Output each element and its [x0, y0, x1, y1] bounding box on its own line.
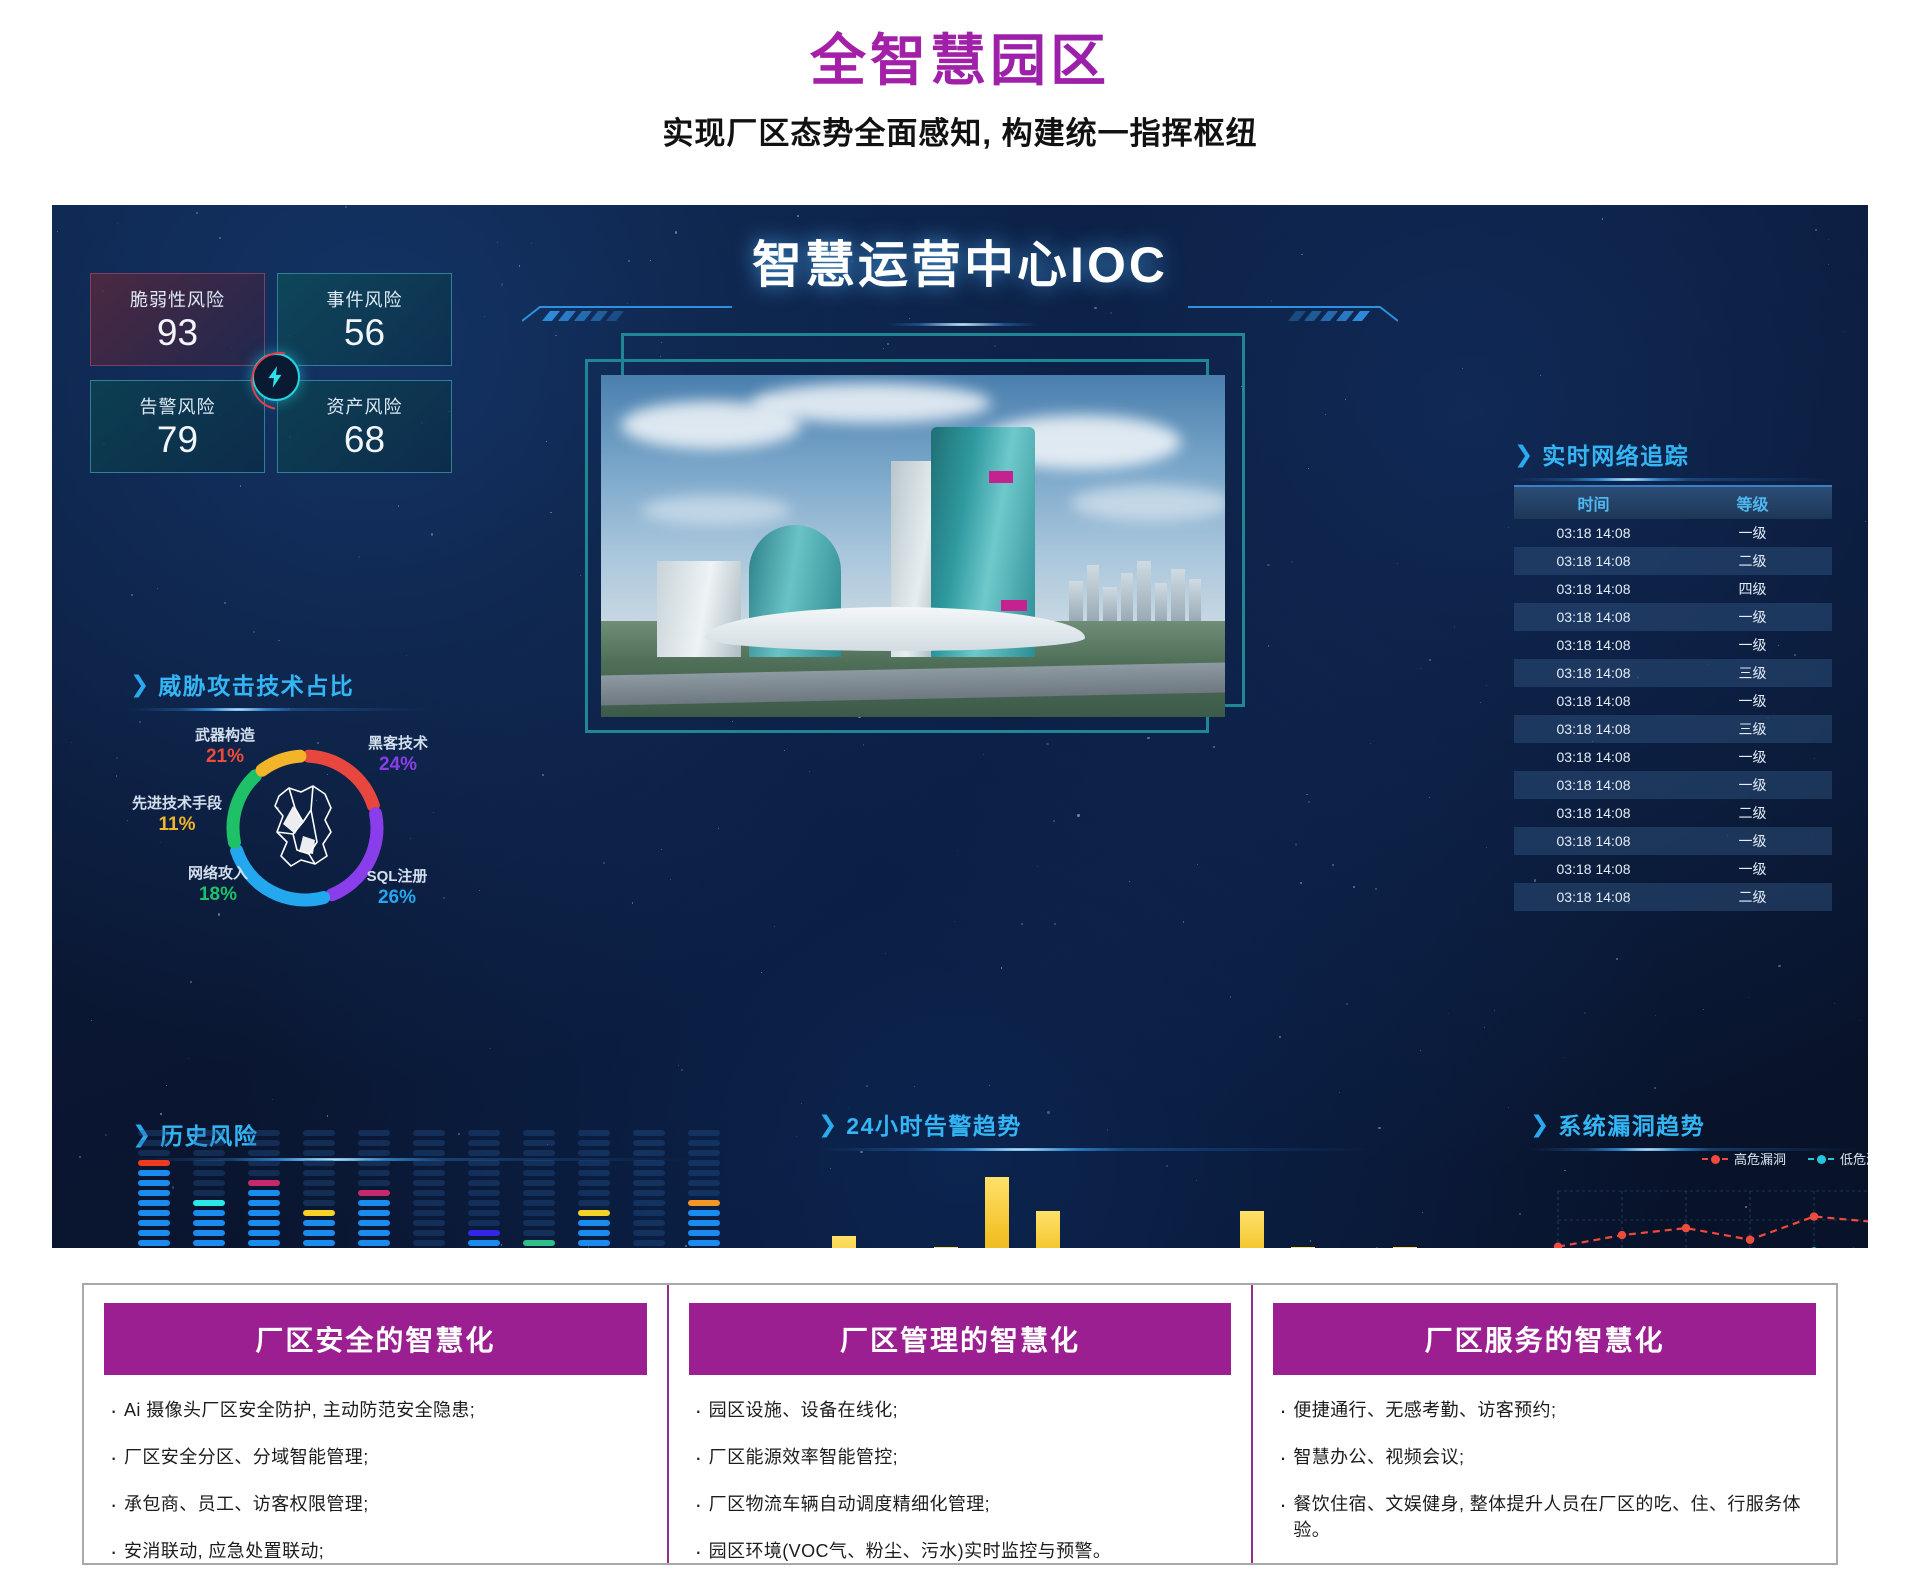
section-threat-attack: ❯ 威胁攻击技术占比 — [130, 667, 430, 711]
series-line-0 — [1558, 1217, 1868, 1247]
cell-level: 一级 — [1673, 859, 1832, 879]
alert-bar — [985, 1177, 1009, 1248]
list-item: 安消联动, 应急处置联动; — [110, 1538, 641, 1564]
card-bullet-list: 园区设施、设备在线化;厂区能源效率智能管控;厂区物流车辆自动调度精细化管理;园区… — [689, 1375, 1232, 1564]
cell-level: 三级 — [1673, 663, 1832, 683]
cell-level: 一级 — [1673, 775, 1832, 795]
table-row[interactable]: 03:18 14:08二级 — [1514, 799, 1832, 827]
donut-label-4: 先进技术手段 11% — [112, 792, 242, 836]
vulnerability-trend-chart: 高危漏洞 低危漏洞 2013年2014年2015年2016年2017年2018年 — [1530, 1157, 1868, 1248]
cell-level: 二级 — [1673, 887, 1832, 907]
section-title: 系统漏洞趋势 — [1558, 1107, 1705, 1141]
threat-donut-chart: 武器构造 21% 黑客技术 24% SQL注册 26% 网络攻入 18% 先进技… — [130, 720, 480, 935]
cell-level: 二级 — [1673, 803, 1832, 823]
column-header-level: 等级 — [1673, 491, 1832, 515]
table-header-row: 时间 等级 — [1514, 485, 1832, 519]
kpi-label: 告警风险 — [140, 393, 216, 419]
donut-label-1: 黑客技术 24% — [338, 732, 458, 776]
cell-level: 一级 — [1673, 747, 1832, 767]
title-deco-right — [1188, 303, 1398, 325]
map-highlight-region-2 — [299, 836, 315, 854]
alert-bar — [832, 1236, 856, 1248]
table-row[interactable]: 03:18 14:08一级 — [1514, 771, 1832, 799]
card-plant-service: 厂区服务的智慧化 便捷通行、无感考勤、访客预约;智慧办公、视频会议;餐饮住宿、文… — [1251, 1285, 1836, 1563]
kpi-card-incident-risk[interactable]: 事件风险 56 — [277, 273, 452, 366]
cell-time: 03:18 14:08 — [1514, 637, 1673, 653]
title-deco-left — [522, 303, 732, 325]
series-point — [1618, 1231, 1626, 1239]
section-divider — [130, 708, 430, 711]
history-bar-column — [248, 1130, 280, 1248]
card-title: 厂区管理的智慧化 — [689, 1303, 1232, 1375]
cell-level: 一级 — [1673, 607, 1832, 627]
card-bullet-list: 便捷通行、无感考勤、访客预约;智慧办公、视频会议;餐饮住宿、文娱健身, 整体提升… — [1273, 1375, 1816, 1543]
chevron-right-icon: ❯ — [130, 673, 149, 696]
cell-time: 03:18 14:08 — [1514, 749, 1673, 765]
series-point — [1810, 1212, 1818, 1220]
history-bar-column — [523, 1130, 555, 1248]
cell-level: 一级 — [1673, 691, 1832, 711]
dashboard-panel: 智慧运营中心IOC — [52, 205, 1868, 1248]
kpi-group: 脆弱性风险 93 事件风险 56 告警风险 79 资产风险 68 — [90, 273, 455, 473]
list-item: 智慧办公、视频会议; — [1279, 1444, 1810, 1470]
kpi-card-alarm-risk[interactable]: 告警风险 79 — [90, 380, 265, 473]
kpi-card-vulnerability-risk[interactable]: 脆弱性风险 93 — [90, 273, 265, 366]
section-title: 实时网络追踪 — [1542, 437, 1689, 471]
table-row[interactable]: 03:18 14:08一级 — [1514, 743, 1832, 771]
kpi-label: 事件风险 — [327, 286, 403, 312]
feature-cards: 厂区安全的智慧化 Ai 摄像头厂区安全防护, 主动防范安全隐患;厂区安全分区、分… — [82, 1283, 1838, 1565]
list-item: 园区环境(VOC气、粉尘、污水)实时监控与预警。 — [695, 1538, 1226, 1564]
donut-label-0: 武器构造 21% — [170, 724, 280, 768]
history-bar-column — [193, 1130, 225, 1248]
building-signage — [989, 471, 1013, 483]
legend-item-low-risk: 低危漏洞 — [1808, 1149, 1868, 1168]
legend-item-high-risk: 高危漏洞 — [1702, 1149, 1786, 1168]
chevron-right-icon: ❯ — [818, 1113, 837, 1136]
list-item: 餐饮住宿、文娱健身, 整体提升人员在厂区的吃、住、行服务体验。 — [1279, 1491, 1810, 1543]
section-network-trace: ❯ 实时网络追踪 — [1514, 437, 1832, 481]
title-glow-line — [742, 323, 1182, 326]
cell-level: 一级 — [1673, 523, 1832, 543]
cell-time: 03:18 14:08 — [1514, 665, 1673, 681]
history-bar-column — [138, 1130, 170, 1248]
kpi-value: 68 — [344, 421, 385, 460]
cell-time: 03:18 14:08 — [1514, 861, 1673, 877]
lightning-bolt-icon — [252, 353, 300, 401]
alert-bar — [934, 1247, 958, 1248]
cell-time: 03:18 14:08 — [1514, 609, 1673, 625]
hero-image-frame — [585, 333, 1245, 733]
cell-time: 03:18 14:08 — [1514, 525, 1673, 541]
chevron-right-icon: ❯ — [1530, 1113, 1549, 1136]
column-header-time: 时间 — [1514, 491, 1673, 515]
table-body: 03:18 14:08一级03:18 14:08二级03:18 14:08四级0… — [1514, 519, 1832, 911]
table-row[interactable]: 03:18 14:08四级 — [1514, 575, 1832, 603]
alert-24h-chart: 2时4时6时8时10时12时14时16时18时20时22时24时 — [818, 1151, 1458, 1248]
kpi-value: 93 — [157, 314, 198, 353]
alert-bar — [1291, 1247, 1315, 1248]
history-bar-column — [578, 1130, 610, 1248]
cell-level: 一级 — [1673, 831, 1832, 851]
chart-legend: 高危漏洞 低危漏洞 — [1702, 1149, 1868, 1168]
table-row[interactable]: 03:18 14:08一级 — [1514, 631, 1832, 659]
history-bar-column — [413, 1130, 445, 1248]
section-title: 威胁攻击技术占比 — [158, 667, 354, 701]
table-row[interactable]: 03:18 14:08一级 — [1514, 827, 1832, 855]
chevron-right-icon: ❯ — [1514, 443, 1533, 466]
alert-bar — [1393, 1247, 1417, 1248]
table-row[interactable]: 03:18 14:08三级 — [1514, 659, 1832, 687]
background-city — [1067, 551, 1217, 621]
list-item: 厂区安全分区、分域智能管理; — [110, 1444, 641, 1470]
legend-line-icon — [1808, 1158, 1834, 1160]
cell-level: 二级 — [1673, 551, 1832, 571]
card-title: 厂区安全的智慧化 — [104, 1303, 647, 1375]
history-bar-column — [688, 1130, 720, 1248]
map-highlight-region — [283, 806, 303, 834]
card-bullet-list: Ai 摄像头厂区安全防护, 主动防范安全隐患;厂区安全分区、分域智能管理;承包商… — [104, 1375, 647, 1564]
cell-level: 一级 — [1673, 635, 1832, 655]
legend-line-icon — [1702, 1158, 1728, 1160]
section-vuln-trend: ❯ 系统漏洞趋势 — [1530, 1107, 1860, 1151]
cell-time: 03:18 14:08 — [1514, 833, 1673, 849]
table-row[interactable]: 03:18 14:08一级 — [1514, 687, 1832, 715]
kpi-label: 资产风险 — [327, 393, 403, 419]
poster-header: 全智慧园区 实现厂区态势全面感知, 构建统一指挥枢纽 — [0, 0, 1920, 153]
section-title: 24小时告警趋势 — [846, 1107, 1022, 1141]
cell-level: 三级 — [1673, 719, 1832, 739]
list-item: 厂区物流车辆自动调度精细化管理; — [695, 1491, 1226, 1517]
kpi-label: 脆弱性风险 — [130, 286, 225, 312]
kpi-value: 56 — [344, 314, 385, 353]
list-item: Ai 摄像头厂区安全防护, 主动防范安全隐患; — [110, 1397, 641, 1423]
cell-time: 03:18 14:08 — [1514, 693, 1673, 709]
table-row[interactable]: 03:18 14:08一级 — [1514, 855, 1832, 883]
table-row[interactable]: 03:18 14:08三级 — [1514, 715, 1832, 743]
series-point — [1810, 1247, 1818, 1248]
history-bar-column — [633, 1130, 665, 1248]
page-title: 全智慧园区 — [0, 30, 1920, 92]
table-row[interactable]: 03:18 14:08二级 — [1514, 883, 1832, 911]
table-row[interactable]: 03:18 14:08二级 — [1514, 547, 1832, 575]
series-point — [1682, 1224, 1690, 1232]
card-plant-management: 厂区管理的智慧化 园区设施、设备在线化;厂区能源效率智能管控;厂区物流车辆自动调… — [667, 1285, 1252, 1563]
section-alert-trend: ❯ 24小时告警趋势 — [818, 1107, 1378, 1151]
cell-time: 03:18 14:08 — [1514, 721, 1673, 737]
donut-label-2: SQL注册 26% — [338, 865, 456, 909]
table-row[interactable]: 03:18 14:08一级 — [1514, 519, 1832, 547]
series-point — [1554, 1242, 1562, 1248]
podium-signage — [1001, 600, 1027, 611]
history-bar-column — [303, 1130, 335, 1248]
history-bar-column — [468, 1130, 500, 1248]
alert-bar — [1240, 1211, 1264, 1248]
list-item: 便捷通行、无感考勤、访客预约; — [1279, 1397, 1810, 1423]
page-subtitle: 实现厂区态势全面感知, 构建统一指挥枢纽 — [0, 108, 1920, 153]
list-item: 厂区能源效率智能管控; — [695, 1444, 1226, 1470]
history-risk-chart: 周五周六周日周一周二周三周四周五周六周日今日 — [132, 1168, 752, 1248]
table-row[interactable]: 03:18 14:08一级 — [1514, 603, 1832, 631]
alert-bar — [1036, 1211, 1060, 1248]
list-item: 承包商、员工、访客权限管理; — [110, 1491, 641, 1517]
history-bar-column — [358, 1130, 390, 1248]
cell-level: 四级 — [1673, 579, 1832, 599]
kpi-value: 79 — [157, 421, 198, 460]
card-plant-safety: 厂区安全的智慧化 Ai 摄像头厂区安全防护, 主动防范安全隐患;厂区安全分区、分… — [84, 1285, 667, 1563]
cell-time: 03:18 14:08 — [1514, 553, 1673, 569]
cell-time: 03:18 14:08 — [1514, 581, 1673, 597]
donut-label-3: 网络攻入 18% — [162, 862, 274, 906]
section-divider — [1514, 478, 1832, 481]
cell-time: 03:18 14:08 — [1514, 889, 1673, 905]
campus-building-photo — [601, 375, 1225, 717]
cell-time: 03:18 14:08 — [1514, 777, 1673, 793]
cell-time: 03:18 14:08 — [1514, 805, 1673, 821]
list-item: 园区设施、设备在线化; — [695, 1397, 1226, 1423]
series-point — [1746, 1236, 1754, 1244]
network-trace-table[interactable]: 时间 等级 03:18 14:08一级03:18 14:08二级03:18 14… — [1514, 485, 1832, 911]
card-title: 厂区服务的智慧化 — [1273, 1303, 1816, 1375]
vulnerability-svg — [1530, 1181, 1868, 1248]
poster-root: 全智慧园区 实现厂区态势全面感知, 构建统一指挥枢纽 智慧运营中心IOC — [0, 0, 1920, 1595]
